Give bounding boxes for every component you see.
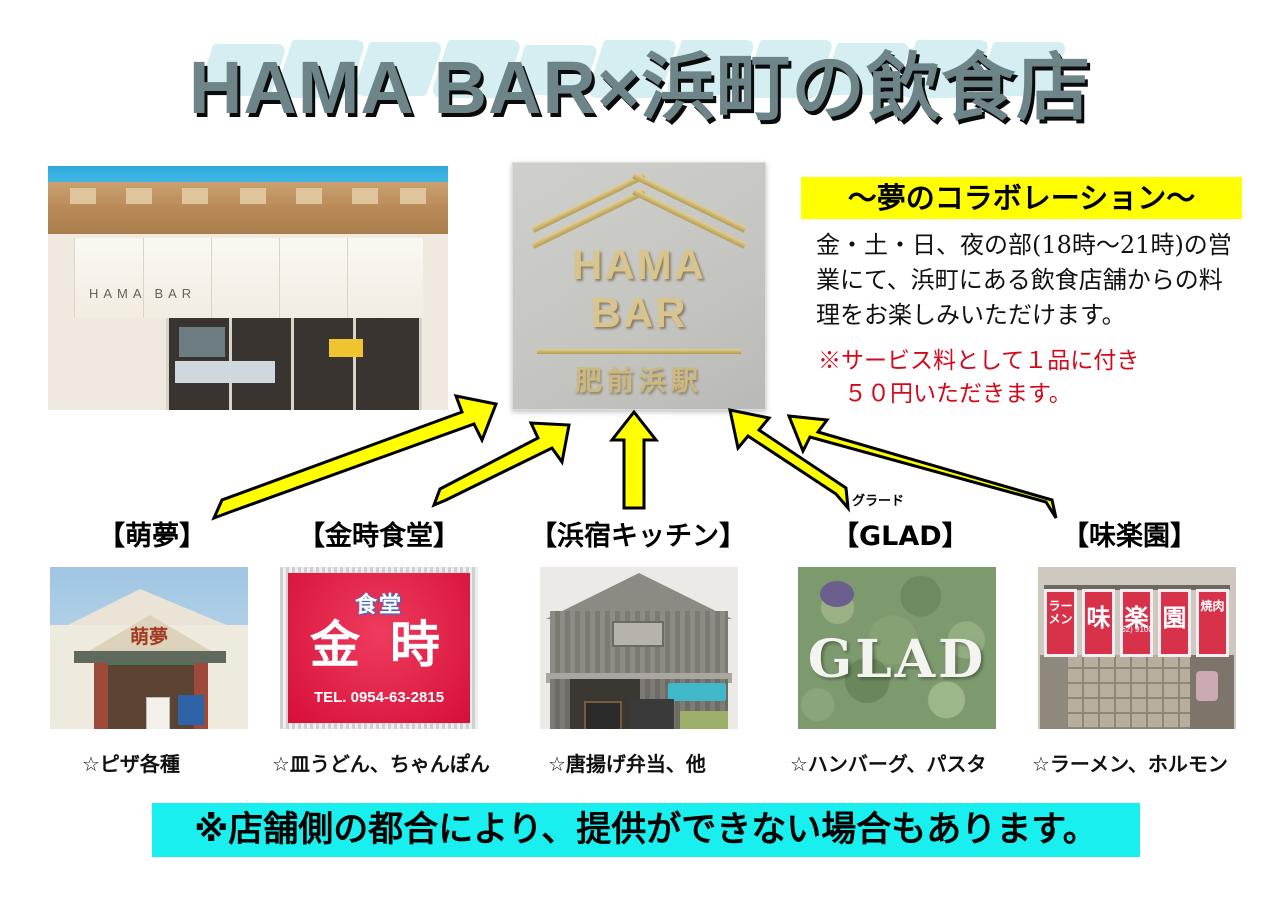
photo-shop-kintoki: 食堂 金 時 TEL. 0954-63-2815 xyxy=(276,563,482,733)
shop-sign-moemu: 萌夢 xyxy=(120,625,178,651)
photo-shop-glad: GLAD xyxy=(794,563,1000,733)
shop-ruby-glad: グラード xyxy=(852,490,904,509)
disclaimer-banner: ※店舗側の都合により、提供ができない場合もあります。 xyxy=(152,803,1140,857)
poster-canvas: HAMA BAR×浜町の飲食店 HAMA BAR HAMA BAR 肥前浜駅 〜… xyxy=(0,0,1280,905)
miraku-noren-5: 焼肉 xyxy=(1196,589,1229,657)
shop-caption-moemu: ☆ピザ各種 xyxy=(82,748,180,777)
shop-label-moemu: 【萌夢】 xyxy=(98,514,206,553)
photo-shop-moemu: 萌夢 xyxy=(46,563,252,733)
miraku-noren-4: 園 xyxy=(1158,589,1191,657)
shop-label-kintoki: 【金時食堂】 xyxy=(298,514,460,553)
shop-label-miraku: 【味楽園】 xyxy=(1062,514,1197,553)
miraku-noren-2: 味 xyxy=(1082,589,1115,657)
miraku-noren-3: 楽 xyxy=(1120,589,1153,657)
glad-sign-text: GLAD xyxy=(798,629,996,690)
shop-label-glad: 【GLAD】 xyxy=(832,514,969,553)
shop-caption-kintoki: ☆皿うどん、ちゃんぽん xyxy=(272,748,490,777)
kintoki-sign-tel: TEL. 0954-63-2815 xyxy=(288,689,470,706)
kintoki-sign-main: 金 時 xyxy=(288,615,470,675)
miraku-sign-tel: 62) 9100 xyxy=(1038,625,1236,634)
disclaimer-text: ※店舗側の都合により、提供ができない場合もあります。 xyxy=(152,803,1140,857)
photo-shop-miraku: ラーメン 味 楽 園 焼肉 62) 9100 xyxy=(1034,563,1240,733)
photo-shop-hamashuku xyxy=(536,563,742,733)
shop-label-hamashuku: 【浜宿キッチン】 xyxy=(530,514,746,553)
miraku-noren-1: ラーメン xyxy=(1044,589,1077,657)
shop-caption-glad: ☆ハンバーグ、パスタ xyxy=(790,748,987,777)
shop-caption-hamashuku: ☆唐揚げ弁当、他 xyxy=(548,748,706,777)
shop-caption-miraku: ☆ラーメン、ホルモン xyxy=(1032,748,1228,777)
